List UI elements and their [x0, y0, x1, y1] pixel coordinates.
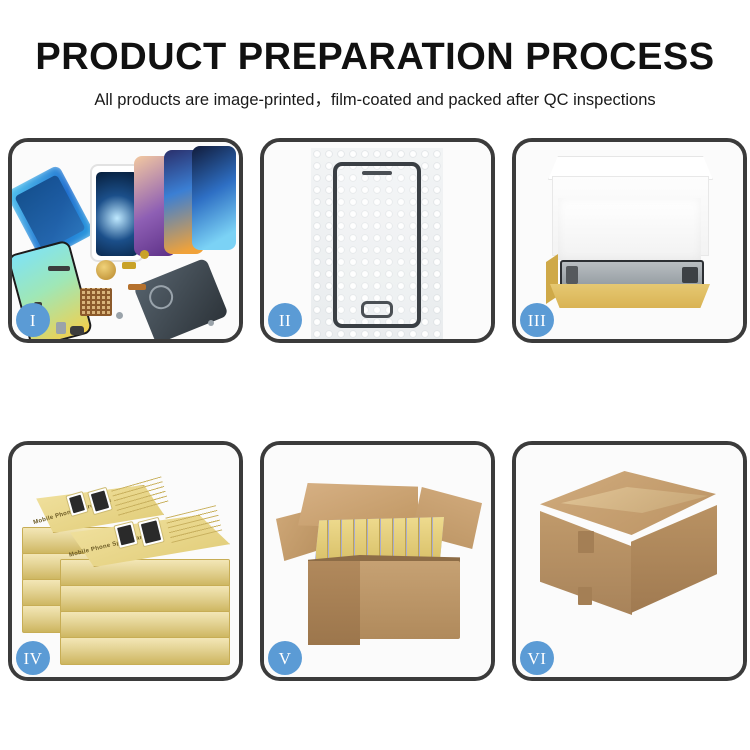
foam-padding [558, 198, 701, 260]
page-title: PRODUCT PREPARATION PROCESS [0, 0, 750, 78]
part-silver-block [56, 322, 66, 334]
step-badge-3: III [520, 303, 554, 337]
retail-box [60, 611, 230, 639]
part-gold-dot [140, 250, 149, 259]
step-badge-4: IV [16, 641, 50, 675]
process-step-4[interactable]: Mobile Phone Spare Parts Mobile Phone Sp… [8, 441, 243, 681]
bubble-wrap-sheet [311, 148, 443, 341]
step-badge-2: II [268, 303, 302, 337]
part-gold-flex [122, 262, 136, 269]
step-4-photo: Mobile Phone Spare Parts Mobile Phone Sp… [12, 445, 239, 677]
step-5-photo [264, 445, 491, 677]
phone-glass-digitizer [333, 162, 421, 328]
retail-box [60, 637, 230, 665]
speaker-coil-part [96, 260, 116, 280]
step-badge-5: V [268, 641, 302, 675]
box-front-wall [550, 284, 710, 308]
carton-left-face [308, 561, 360, 645]
carton-seam-tab [578, 587, 592, 605]
retail-box-stack: Mobile Phone Spare Parts Mobile Phone Sp… [20, 461, 232, 661]
page-subtitle: All products are image-printed，film-coat… [0, 78, 750, 110]
part-button [70, 326, 84, 335]
step-badge-6: VI [520, 641, 554, 675]
step-6-photo [516, 445, 743, 677]
connector-grid-part [80, 288, 112, 316]
process-step-grid: I II III [8, 138, 742, 684]
retail-box [60, 585, 230, 613]
header: PRODUCT PREPARATION PROCESS All products… [0, 0, 750, 110]
part-strip [48, 266, 70, 271]
retail-box [60, 559, 230, 587]
process-step-2[interactable]: II [260, 138, 495, 343]
phone-blue [192, 146, 236, 250]
phone-teardown-board [133, 258, 229, 343]
process-step-1[interactable]: I [8, 138, 243, 343]
product-preparation-infographic: PRODUCT PREPARATION PROCESS All products… [0, 0, 750, 750]
part-screw-2 [208, 320, 214, 326]
process-step-6[interactable]: VI [512, 441, 747, 681]
process-step-5[interactable]: V [260, 441, 495, 681]
process-step-3[interactable]: III [512, 138, 747, 343]
step-badge-1: I [16, 303, 50, 337]
part-screw [116, 312, 123, 319]
part-copper-flex [128, 284, 146, 290]
carton-seam-tab [578, 531, 594, 553]
